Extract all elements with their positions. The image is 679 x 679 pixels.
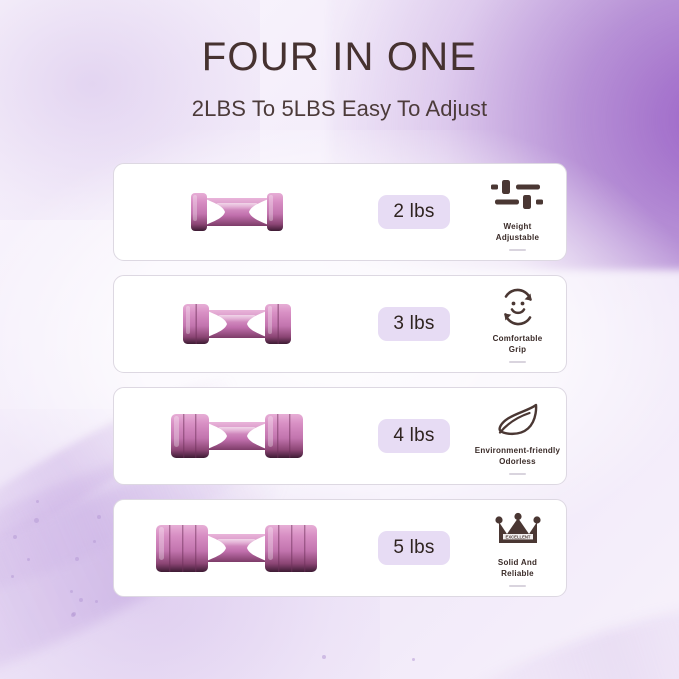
feature-underline xyxy=(509,473,526,475)
feature-label: Comfortable Grip xyxy=(493,334,543,356)
feature-label-line2: Grip xyxy=(509,345,526,354)
product-infographic: FOUR IN ONE 2LBS To 5LBS Easy To Adjust xyxy=(0,0,679,679)
page-subtitle: 2LBS To 5LBS Easy To Adjust xyxy=(0,96,679,122)
weight-badge-cell: 4 lbs xyxy=(359,419,469,453)
feature-underline xyxy=(509,249,526,251)
feature-label: Solid And Reliable xyxy=(498,558,537,580)
feature-label: Weight Adjustable xyxy=(496,222,539,244)
dumbbell-2lbs xyxy=(175,181,299,243)
feature-label-line1: Environment-friendly xyxy=(475,446,560,455)
feature-label-line1: Comfortable xyxy=(493,334,543,343)
feature-card[interactable]: 2 lbs Weight xyxy=(113,163,567,261)
feature-card-list: 2 lbs Weight xyxy=(113,163,567,597)
dumbbell-image-cell xyxy=(114,500,359,596)
weight-badge: 3 lbs xyxy=(378,307,449,341)
feature-label: Environment-friendly Odorless xyxy=(475,446,560,468)
leaf-icon xyxy=(495,399,541,439)
weight-badge-cell: 3 lbs xyxy=(359,307,469,341)
dumbbell-image-cell xyxy=(114,164,359,260)
sliders-adjust-icon xyxy=(489,175,547,215)
crown-icon: EXCELLENT xyxy=(494,511,542,551)
feature-label-line2: Adjustable xyxy=(496,233,539,242)
dumbbell-3lbs xyxy=(167,291,307,357)
weight-badge: 4 lbs xyxy=(378,419,449,453)
feature-card[interactable]: 5 lbs EXCELLENT Solid And Reliable xyxy=(113,499,567,597)
feature-label-line1: Weight xyxy=(503,222,531,231)
feature-underline xyxy=(509,361,526,363)
feature-cell: Environment-friendly Odorless xyxy=(469,388,566,484)
feature-cell: EXCELLENT Solid And Reliable xyxy=(469,500,566,596)
dumbbell-image-cell xyxy=(114,388,359,484)
smiley-rotate-icon xyxy=(497,287,539,327)
feature-cell: Weight Adjustable xyxy=(469,164,566,260)
feature-card[interactable]: 3 lbs xyxy=(113,275,567,373)
weight-badge-cell: 2 lbs xyxy=(359,195,469,229)
feature-underline xyxy=(509,585,526,587)
feature-label-line2: Odorless xyxy=(499,457,536,466)
weight-badge-cell: 5 lbs xyxy=(359,531,469,565)
crown-icon-text: EXCELLENT xyxy=(505,535,530,540)
page-title: FOUR IN ONE xyxy=(0,34,679,80)
dumbbell-5lbs xyxy=(144,511,329,585)
weight-badge: 5 lbs xyxy=(378,531,449,565)
feature-label-line1: Solid And xyxy=(498,558,537,567)
feature-label-line2: Reliable xyxy=(501,569,534,578)
feature-cell: Comfortable Grip xyxy=(469,276,566,372)
weight-badge: 2 lbs xyxy=(378,195,449,229)
heading-block: FOUR IN ONE 2LBS To 5LBS Easy To Adjust xyxy=(0,34,679,122)
dumbbell-image-cell xyxy=(114,276,359,372)
feature-card[interactable]: 4 lbs Environment-friendly Odorless xyxy=(113,387,567,485)
dumbbell-4lbs xyxy=(157,401,317,471)
